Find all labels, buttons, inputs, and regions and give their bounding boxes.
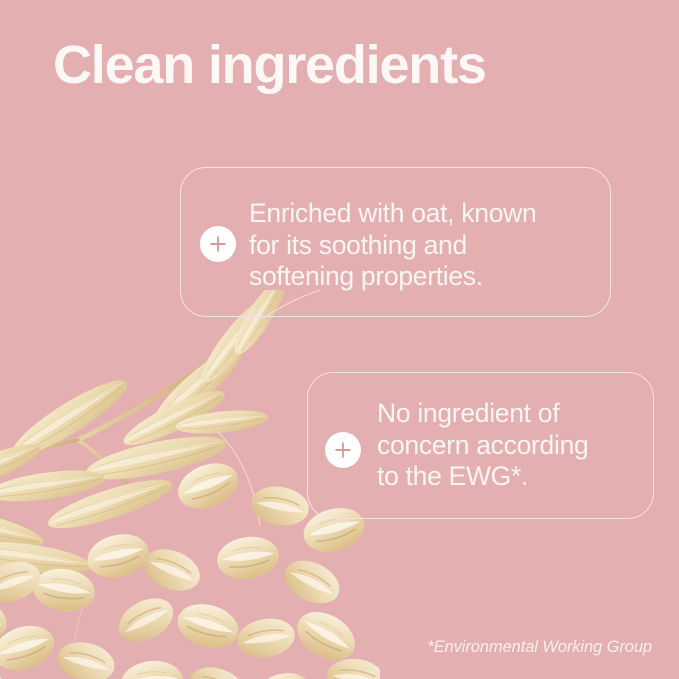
- feature-card-ewg-text: No ingredient of concern according to th…: [377, 398, 647, 493]
- product-feature-graphic: Clean ingredients Enriched with oat, kno…: [0, 0, 679, 679]
- page-title: Clean ingredients: [53, 36, 486, 94]
- footnote: *Environmental Working Group: [427, 638, 652, 657]
- plus-icon: [325, 432, 361, 468]
- plus-icon: [200, 226, 236, 262]
- feature-card-oat-text: Enriched with oat, known for its soothin…: [249, 198, 599, 293]
